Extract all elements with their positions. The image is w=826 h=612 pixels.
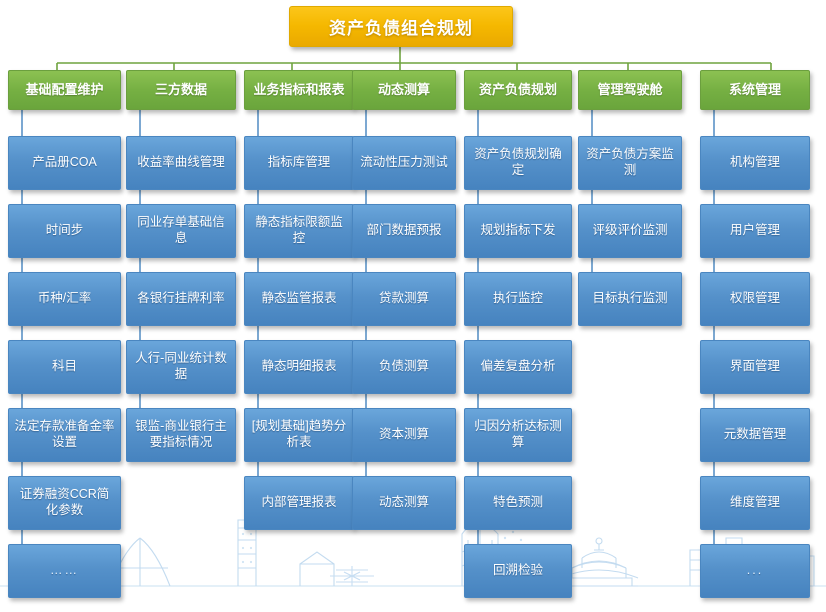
- column-third-party-data: 三方数据 收益率曲线管理 同业存单基础信息 各银行挂牌利率 人行-同业统计数据 …: [126, 70, 236, 476]
- node-label: 资本测算: [379, 427, 429, 443]
- node-label: 证券融资CCR简化参数: [14, 487, 115, 518]
- node-label: 回溯检验: [493, 563, 543, 579]
- node[interactable]: 银监-商业银行主要指标情况: [126, 408, 236, 462]
- node[interactable]: 界面管理: [700, 340, 810, 394]
- node-label: 元数据管理: [724, 427, 787, 443]
- column-header-label: 系统管理: [729, 83, 781, 98]
- column-header[interactable]: 资产负债规划: [464, 70, 572, 110]
- node[interactable]: 收益率曲线管理: [126, 136, 236, 190]
- node[interactable]: 流动性压力测试: [352, 136, 456, 190]
- column-header[interactable]: 管理驾驶舱: [578, 70, 682, 110]
- node-label: 部门数据预报: [366, 223, 441, 239]
- node-label: 维度管理: [730, 495, 780, 511]
- node-label: 规划指标下发: [480, 223, 555, 239]
- node[interactable]: 评级评价监测: [578, 204, 682, 258]
- node-label: 同业存单基础信息: [132, 215, 230, 246]
- node-label: 评级评价监测: [592, 223, 667, 239]
- node[interactable]: 法定存款准备金率设置: [8, 408, 121, 462]
- node-label: 归因分析达标测算: [470, 419, 566, 450]
- node-label: 静态明细报表: [261, 359, 336, 375]
- node[interactable]: 指标库管理: [244, 136, 354, 190]
- root-node[interactable]: 资产负债组合规划: [289, 6, 513, 47]
- node-label: 偏差复盘分析: [480, 359, 555, 375]
- node-label: 币种/汇率: [38, 291, 91, 307]
- node[interactable]: 偏差复盘分析: [464, 340, 572, 394]
- column-header-label: 业务指标和报表: [253, 83, 344, 98]
- node[interactable]: 资本测算: [352, 408, 456, 462]
- column-header-label: 资产负债规划: [479, 83, 557, 98]
- node[interactable]: [规划基础]趋势分析表: [244, 408, 354, 462]
- node[interactable]: 用户管理: [700, 204, 810, 258]
- column-business-metrics-reports: 业务指标和报表 指标库管理 静态指标限额监控 静态监管报表 静态明细报表 [规划…: [244, 70, 354, 544]
- node-label: 内部管理报表: [261, 495, 336, 511]
- node-label: 法定存款准备金率设置: [14, 419, 115, 450]
- node[interactable]: 维度管理: [700, 476, 810, 530]
- column-items: 资产负债规划确定 规划指标下发 执行监控 偏差复盘分析 归因分析达标测算 特色预…: [464, 136, 572, 598]
- node[interactable]: 静态明细报表: [244, 340, 354, 394]
- node-label: 时间步: [46, 223, 84, 239]
- node-label: 机构管理: [730, 155, 780, 171]
- node-label: ……: [50, 563, 79, 579]
- node-label: 界面管理: [730, 359, 780, 375]
- node[interactable]: 币种/汇率: [8, 272, 121, 326]
- node-label: 收益率曲线管理: [137, 155, 225, 171]
- column-header[interactable]: 三方数据: [126, 70, 236, 110]
- node[interactable]: 资产负债方案监测: [578, 136, 682, 190]
- node[interactable]: 元数据管理: [700, 408, 810, 462]
- node[interactable]: 各银行挂牌利率: [126, 272, 236, 326]
- org-chart: 资产负债组合规划 基础配置维护 产品册COA 时间步 币种/汇率 科目 法定存款…: [0, 0, 826, 598]
- node[interactable]: 归因分析达标测算: [464, 408, 572, 462]
- node[interactable]: 特色预测: [464, 476, 572, 530]
- column-header[interactable]: 动态测算: [352, 70, 456, 110]
- node-label: 资产负债方案监测: [584, 147, 676, 178]
- column-items: 产品册COA 时间步 币种/汇率 科目 法定存款准备金率设置 证券融资CCR简化…: [8, 136, 121, 598]
- node[interactable]: 资产负债规划确定: [464, 136, 572, 190]
- node[interactable]: 内部管理报表: [244, 476, 354, 530]
- column-header-label: 管理驾驶舱: [597, 83, 662, 98]
- column-header[interactable]: 系统管理: [700, 70, 810, 110]
- node-label: ...: [747, 563, 763, 579]
- node[interactable]: 规划指标下发: [464, 204, 572, 258]
- node-label: 目标执行监测: [592, 291, 667, 307]
- column-items: 资产负债方案监测 评级评价监测 目标执行监测: [578, 136, 682, 326]
- node[interactable]: 静态指标限额监控: [244, 204, 354, 258]
- node[interactable]: 产品册COA: [8, 136, 121, 190]
- column-basic-config: 基础配置维护 产品册COA 时间步 币种/汇率 科目 法定存款准备金率设置 证券…: [8, 70, 121, 612]
- node-more[interactable]: ……: [8, 544, 121, 598]
- node[interactable]: 科目: [8, 340, 121, 394]
- node[interactable]: 同业存单基础信息: [126, 204, 236, 258]
- column-items: 流动性压力测试 部门数据预报 贷款测算 负债测算 资本测算 动态测算: [352, 136, 456, 530]
- node-label: 权限管理: [730, 291, 780, 307]
- node-label: 执行监控: [493, 291, 543, 307]
- node[interactable]: 执行监控: [464, 272, 572, 326]
- node[interactable]: 证券融资CCR简化参数: [8, 476, 121, 530]
- node-label: 特色预测: [493, 495, 543, 511]
- node[interactable]: 权限管理: [700, 272, 810, 326]
- node-label: 静态监管报表: [261, 291, 336, 307]
- node[interactable]: 机构管理: [700, 136, 810, 190]
- column-header-label: 基础配置维护: [25, 83, 103, 98]
- node-label: 银监-商业银行主要指标情况: [132, 419, 230, 450]
- node-label: 产品册COA: [32, 155, 97, 171]
- node[interactable]: 目标执行监测: [578, 272, 682, 326]
- node[interactable]: 负债测算: [352, 340, 456, 394]
- column-header[interactable]: 基础配置维护: [8, 70, 121, 110]
- column-header[interactable]: 业务指标和报表: [244, 70, 354, 110]
- node[interactable]: 回溯检验: [464, 544, 572, 598]
- column-header-label: 三方数据: [155, 83, 207, 98]
- node[interactable]: 时间步: [8, 204, 121, 258]
- node-label: 指标库管理: [268, 155, 331, 171]
- node-label: 动态测算: [379, 495, 429, 511]
- node[interactable]: 部门数据预报: [352, 204, 456, 258]
- column-management-cockpit: 管理驾驶舱 资产负债方案监测 评级评价监测 目标执行监测: [578, 70, 682, 340]
- node[interactable]: 贷款测算: [352, 272, 456, 326]
- column-items: 指标库管理 静态指标限额监控 静态监管报表 静态明细报表 [规划基础]趋势分析表…: [244, 136, 354, 530]
- node-label: 静态指标限额监控: [250, 215, 348, 246]
- root-node-label: 资产负债组合规划: [329, 14, 473, 39]
- node-label: [规划基础]趋势分析表: [250, 419, 348, 450]
- node[interactable]: 静态监管报表: [244, 272, 354, 326]
- column-items: 机构管理 用户管理 权限管理 界面管理 元数据管理 维度管理 ...: [700, 136, 810, 598]
- column-dynamic-calculation: 动态测算 流动性压力测试 部门数据预报 贷款测算 负债测算 资本测算 动态测算: [352, 70, 456, 544]
- node-label: 各银行挂牌利率: [137, 291, 225, 307]
- column-asset-liability-planning: 资产负债规划 资产负债规划确定 规划指标下发 执行监控 偏差复盘分析 归因分析达…: [464, 70, 572, 612]
- node[interactable]: 动态测算: [352, 476, 456, 530]
- node-label: 资产负债规划确定: [470, 147, 566, 178]
- node-label: 用户管理: [730, 223, 780, 239]
- node-label: 贷款测算: [379, 291, 429, 307]
- column-system-management: 系统管理 机构管理 用户管理 权限管理 界面管理 元数据管理 维度管理 ...: [700, 70, 810, 612]
- column-header-label: 动态测算: [378, 83, 430, 98]
- node-label: 人行-同业统计数据: [132, 351, 230, 382]
- node-more[interactable]: ...: [700, 544, 810, 598]
- node-label: 流动性压力测试: [360, 155, 448, 171]
- column-items: 收益率曲线管理 同业存单基础信息 各银行挂牌利率 人行-同业统计数据 银监-商业…: [126, 136, 236, 462]
- node-label: 科目: [52, 359, 77, 375]
- node-label: 负债测算: [379, 359, 429, 375]
- node[interactable]: 人行-同业统计数据: [126, 340, 236, 394]
